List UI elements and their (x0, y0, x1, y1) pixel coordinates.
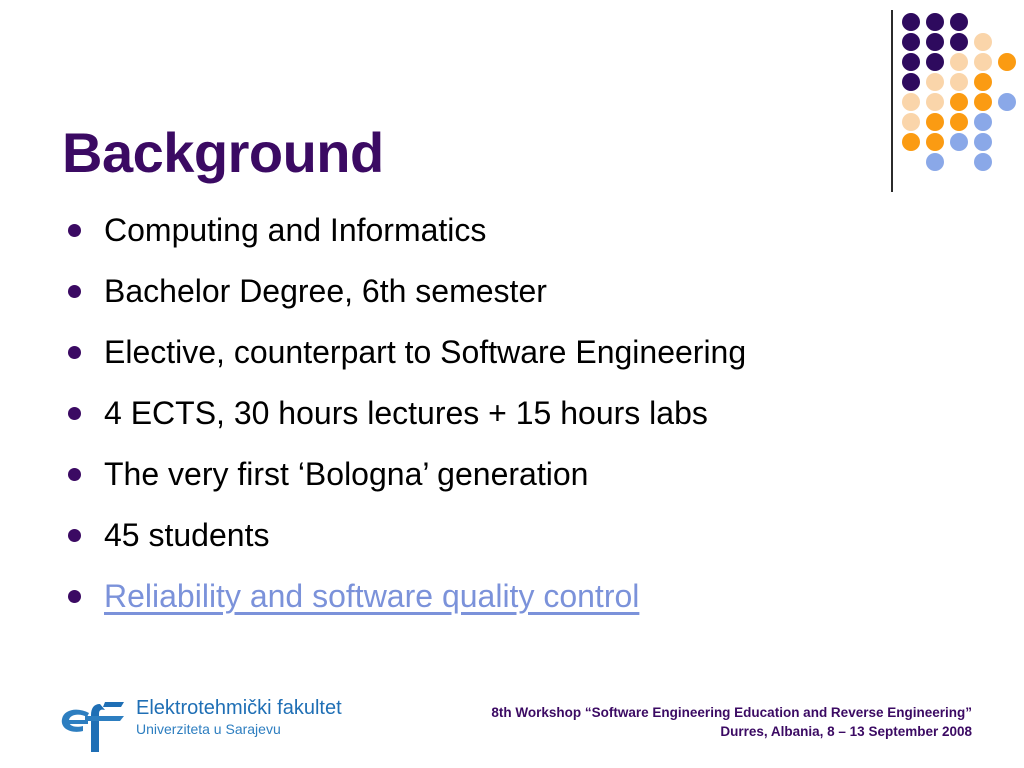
motif-dot-empty (996, 72, 1020, 92)
motif-dot-purple (924, 52, 948, 72)
bullet-text: Bachelor Degree, 6th semester (104, 273, 547, 309)
workshop-credit-line2: Durres, Albania, 8 – 13 September 2008 (491, 722, 972, 741)
motif-dot-peach (972, 52, 996, 72)
bullet-marker-icon (68, 468, 81, 481)
motif-dot-empty (900, 152, 924, 172)
bullet-text: 4 ECTS, 30 hours lectures + 15 hours lab… (104, 395, 708, 431)
bullet-marker-icon (68, 590, 81, 603)
list-item: 4 ECTS, 30 hours lectures + 15 hours lab… (62, 383, 962, 444)
university-logo: Elektrotehmički fakultet Univerziteta u … (58, 694, 328, 756)
motif-dot-orange (900, 132, 924, 152)
motif-dot-peach (900, 112, 924, 132)
motif-dot-purple (900, 32, 924, 52)
list-item: Elective, counterpart to Software Engine… (62, 322, 962, 383)
motif-dot-empty (972, 12, 996, 32)
dot-grid (900, 12, 1020, 172)
list-item: Bachelor Degree, 6th semester (62, 261, 962, 322)
motif-dot-purple (924, 12, 948, 32)
motif-dot-empty (996, 132, 1020, 152)
bullet-text: The very first ‘Bologna’ generation (104, 456, 588, 492)
decorative-dot-motif (888, 8, 1024, 193)
motif-dot-purple (900, 52, 924, 72)
motif-dot-purple (948, 12, 972, 32)
list-item: Computing and Informatics (62, 200, 962, 261)
motif-dot-blue (972, 132, 996, 152)
bullet-text: 45 students (104, 517, 269, 553)
motif-dot-peach (948, 52, 972, 72)
motif-dot-orange (948, 92, 972, 112)
motif-dot-peach (948, 72, 972, 92)
motif-dot-blue (924, 152, 948, 172)
bullet-marker-icon (68, 407, 81, 420)
list-item: The very first ‘Bologna’ generation (62, 444, 962, 505)
motif-dot-orange (924, 112, 948, 132)
bullet-marker-icon (68, 529, 81, 542)
motif-dot-orange (948, 112, 972, 132)
motif-dot-orange (972, 92, 996, 112)
motif-dot-peach (972, 32, 996, 52)
motif-dot-purple (948, 32, 972, 52)
bullet-list: Computing and InformaticsBachelor Degree… (62, 200, 962, 627)
motif-dot-empty (996, 12, 1020, 32)
motif-dot-empty (996, 32, 1020, 52)
workshop-credit-line1: 8th Workshop “Software Engineering Educa… (491, 703, 972, 722)
motif-dot-peach (900, 92, 924, 112)
motif-dot-purple (924, 32, 948, 52)
page-title: Background (62, 124, 384, 183)
motif-dot-blue (996, 92, 1020, 112)
bullet-text: Elective, counterpart to Software Engine… (104, 334, 746, 370)
motif-dot-peach (924, 72, 948, 92)
vertical-rule (891, 10, 893, 192)
bullet-marker-icon (68, 285, 81, 298)
motif-dot-purple (900, 72, 924, 92)
ef-monogram-icon (58, 696, 132, 754)
bullet-link-text[interactable]: Reliability and software quality control (104, 578, 639, 614)
motif-dot-orange (924, 132, 948, 152)
logo-faculty-name: Elektrotehmički fakultet (136, 696, 342, 720)
bullet-text: Computing and Informatics (104, 212, 486, 248)
workshop-credit: 8th Workshop “Software Engineering Educa… (491, 703, 972, 741)
motif-dot-blue (948, 132, 972, 152)
motif-dot-purple (900, 12, 924, 32)
list-item: 45 students (62, 505, 962, 566)
motif-dot-blue (972, 152, 996, 172)
list-item[interactable]: Reliability and software quality control (62, 566, 962, 627)
motif-dot-peach (924, 92, 948, 112)
logo-university-name: Univerziteta u Sarajevu (136, 720, 342, 738)
motif-dot-orange (972, 72, 996, 92)
bullet-marker-icon (68, 346, 81, 359)
motif-dot-orange (996, 52, 1020, 72)
bullet-marker-icon (68, 224, 81, 237)
motif-dot-blue (972, 112, 996, 132)
motif-dot-empty (996, 112, 1020, 132)
university-logo-text: Elektrotehmički fakultet Univerziteta u … (136, 696, 342, 738)
motif-dot-empty (996, 152, 1020, 172)
motif-dot-empty (948, 152, 972, 172)
